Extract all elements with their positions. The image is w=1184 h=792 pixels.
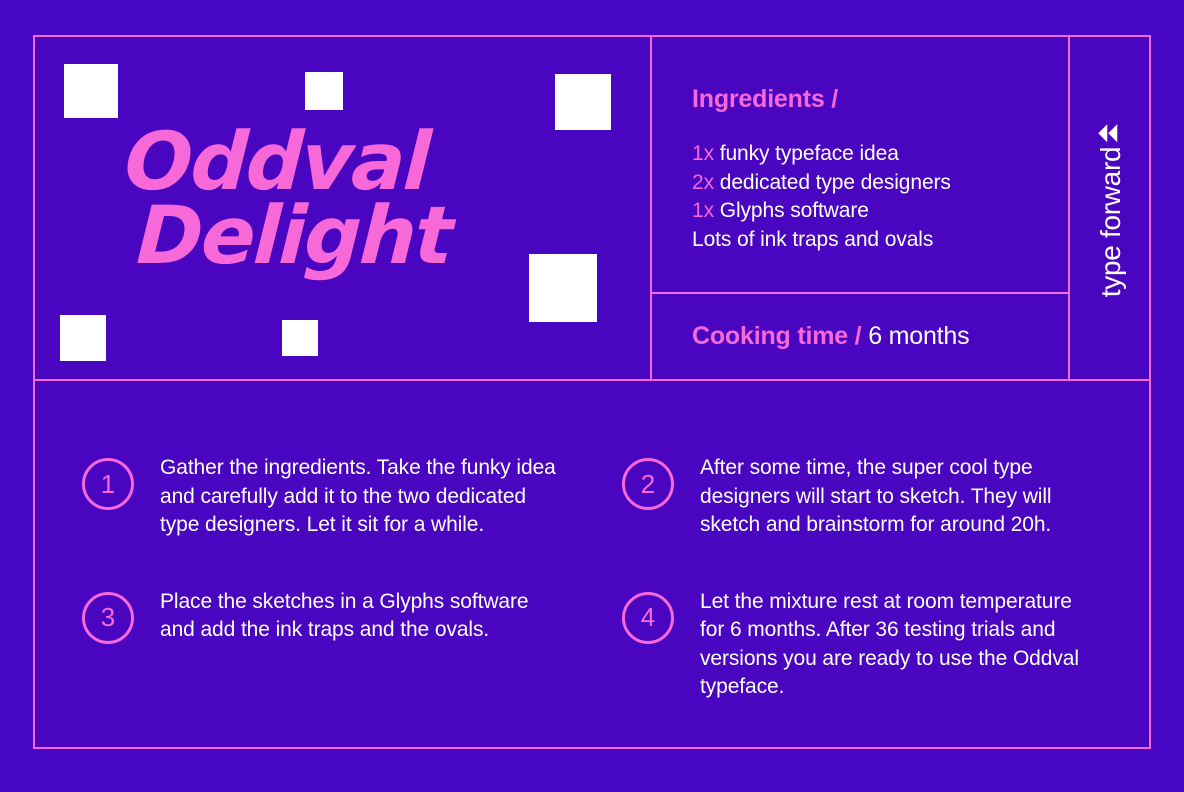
step-item: 2 After some time, the super cool type d… [622, 454, 1112, 540]
sparkle-top-right-icon [555, 74, 611, 130]
ingredient-qty: 2x [692, 171, 714, 194]
ingredient-item: 2x dedicated type designers [692, 169, 951, 198]
ingredient-qty: 1x [692, 199, 714, 222]
step-item: 3 Place the sketches in a Glyphs softwar… [82, 588, 572, 702]
ingredient-label: dedicated type designers [720, 171, 951, 194]
cooking-time-row: Cooking time / 6 months [692, 322, 969, 351]
ingredient-label: funky typeface idea [720, 142, 899, 165]
title-line-2: Delight [119, 199, 563, 273]
sparkle-bottom-mid-icon [282, 320, 318, 356]
step-text: After some time, the super cool type des… [700, 454, 1100, 540]
brand-side-text: type forward [1096, 123, 1128, 297]
cooking-time-value: 6 months [868, 322, 969, 350]
step-item: 4 Let the mixture rest at room temperatu… [622, 588, 1112, 702]
ingredients-list: 1x funky typeface idea 2x dedicated type… [692, 140, 951, 254]
brand-side-panel: type forward [1068, 35, 1151, 381]
ingredient-qty: 1x [692, 142, 714, 165]
ingredient-item: 1x Glyphs software [692, 197, 951, 226]
step-number-badge: 4 [622, 592, 674, 644]
ingredient-label: Glyphs software [720, 199, 869, 222]
title-line-1: Oddval [123, 125, 567, 199]
fast-forward-icon [1098, 123, 1126, 143]
ingredient-item: Lots of ink traps and ovals [692, 226, 951, 255]
sparkle-top-mid-icon [305, 72, 343, 110]
step-text: Gather the ingredients. Take the funky i… [160, 454, 560, 540]
sparkle-bottom-left-icon [60, 315, 106, 361]
ingredient-item: 1x funky typeface idea [692, 140, 951, 169]
cooking-time-panel: Cooking time / 6 months [650, 292, 1070, 381]
step-number-badge: 3 [82, 592, 134, 644]
step-text: Place the sketches in a Glyphs software … [160, 588, 560, 645]
title-panel: Oddval Delight [33, 35, 652, 381]
ingredients-panel: Ingredients / 1x funky typeface idea 2x … [650, 35, 1070, 294]
cooking-time-label: Cooking time / [692, 322, 861, 350]
sparkle-top-left-icon [64, 64, 118, 118]
page-title: Oddval Delight [119, 125, 567, 272]
brand-label: type forward [1096, 147, 1128, 297]
step-text: Let the mixture rest at room temperature… [700, 588, 1100, 702]
step-number-badge: 2 [622, 458, 674, 510]
step-item: 1 Gather the ingredients. Take the funky… [82, 454, 572, 540]
poster: Oddval Delight Ingredients / 1x funky ty… [33, 35, 1151, 749]
step-number-badge: 1 [82, 458, 134, 510]
ingredient-label: Lots of ink traps and ovals [692, 228, 933, 251]
brand-side-inner: type forward [1070, 37, 1153, 383]
ingredients-heading: Ingredients / [692, 85, 838, 114]
steps-grid: 1 Gather the ingredients. Take the funky… [82, 454, 1112, 702]
steps-panel: 1 Gather the ingredients. Take the funky… [33, 379, 1151, 749]
